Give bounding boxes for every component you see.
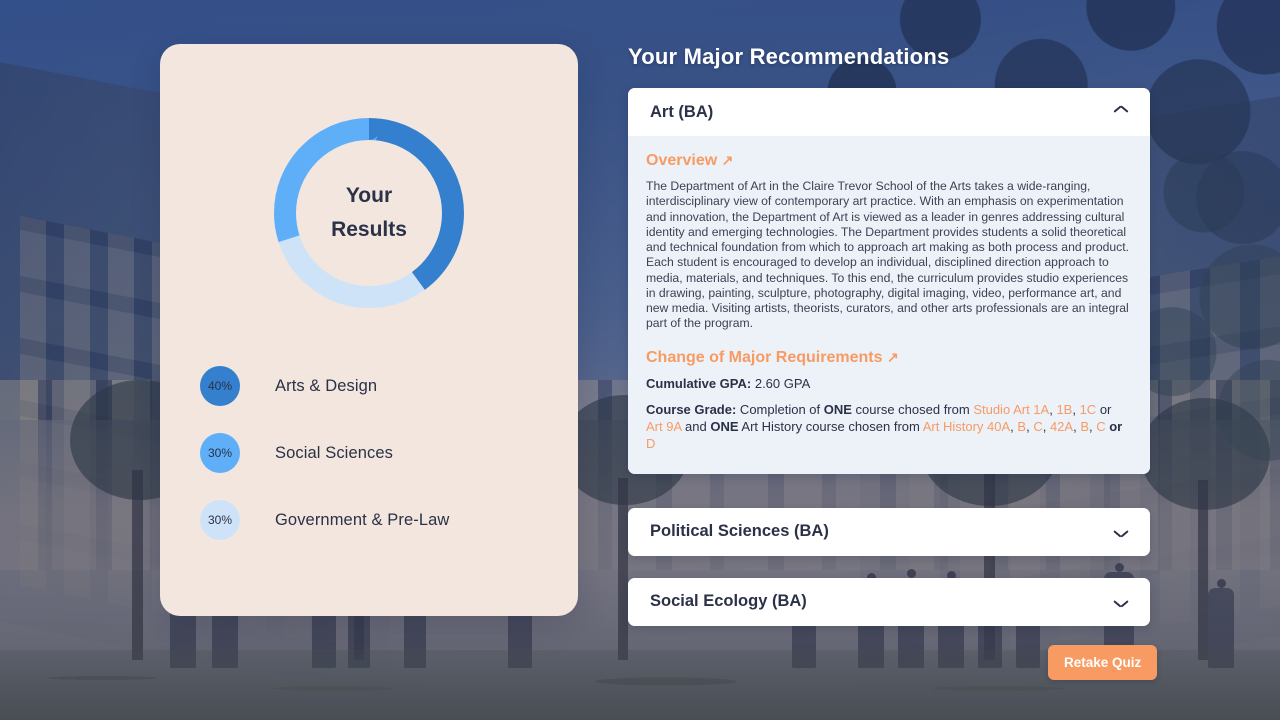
retake-quiz-container: Retake Quiz: [1048, 645, 1157, 680]
gpa-label: Cumulative GPA:: [646, 376, 751, 391]
course-link-40b[interactable]: B: [1017, 419, 1026, 434]
overview-heading-row[interactable]: Overview ↗: [646, 152, 1130, 170]
course-grade-line: Course Grade: Completion of ONE course c…: [646, 401, 1130, 452]
chevron-down-icon[interactable]: [1114, 597, 1128, 606]
page-title: Your Major Recommendations: [628, 44, 1180, 70]
accordion-header-social-ecology-ba[interactable]: Social Ecology (BA): [628, 578, 1150, 626]
legend-label: Social Sciences: [275, 444, 393, 463]
legend-item-government-prelaw: 30% Government & Pre-Law: [200, 500, 548, 540]
course-text-6: or: [1106, 419, 1123, 434]
course-sep-5: ,: [1043, 419, 1050, 434]
requirements-heading-row[interactable]: Change of Major Requirements ↗: [646, 349, 1130, 367]
legend-label: Government & Pre-Law: [275, 511, 449, 530]
course-text-5: Art History course chosen from: [739, 419, 923, 434]
course-text-2: course chosed from: [852, 402, 973, 417]
legend-item-social-sciences: 30% Social Sciences: [200, 433, 548, 473]
external-link-icon: ↗: [722, 152, 734, 168]
retake-quiz-button[interactable]: Retake Quiz: [1048, 645, 1157, 680]
course-text-3: or: [1096, 402, 1111, 417]
legend-item-arts-design: 40% Arts & Design: [200, 366, 548, 406]
overview-heading: Overview: [646, 152, 717, 169]
legend-label: Arts & Design: [275, 377, 377, 396]
legend-badge-percent: 30%: [200, 500, 240, 540]
course-link-42c[interactable]: C: [1096, 419, 1105, 434]
legend-badge-percent: 30%: [200, 433, 240, 473]
overview-text: The Department of Art in the Claire Trev…: [646, 179, 1130, 332]
results-card: Your Results 40% Arts & Design 30% Socia…: [160, 44, 578, 616]
recommendations-column: Your Major Recommendations Art (BA) Over…: [628, 44, 1180, 648]
course-link-studio-art-1a[interactable]: Studio Art 1A: [973, 402, 1049, 417]
course-link-1c[interactable]: 1C: [1080, 402, 1097, 417]
recommendations-accordion: Art (BA) Overview ↗ The Department of Ar…: [628, 88, 1150, 626]
accordion-item-social-ecology-ba: Social Ecology (BA): [628, 578, 1150, 626]
course-link-1b[interactable]: 1B: [1056, 402, 1072, 417]
course-text-4: and: [681, 419, 710, 434]
course-emphasis-one-1: ONE: [824, 402, 852, 417]
legend-badge-percent: 40%: [200, 366, 240, 406]
external-link-icon: ↗: [887, 349, 899, 365]
course-link-art-history-40a[interactable]: Art History 40A: [923, 419, 1010, 434]
accordion-title: Social Ecology (BA): [650, 592, 807, 611]
course-link-40c[interactable]: C: [1033, 419, 1042, 434]
course-sep-2: ,: [1072, 402, 1079, 417]
course-link-42b[interactable]: B: [1080, 419, 1089, 434]
requirements-heading: Change of Major Requirements: [646, 349, 882, 366]
results-donut-chart: Your Results: [268, 112, 470, 314]
accordion-item-art-ba: Art (BA) Overview ↗ The Department of Ar…: [628, 88, 1150, 474]
chevron-down-icon[interactable]: [1114, 527, 1128, 536]
results-legend: 40% Arts & Design 30% Social Sciences 30…: [200, 366, 548, 567]
accordion-header-art-ba[interactable]: Art (BA): [628, 88, 1150, 136]
cumulative-gpa-line: Cumulative GPA: 2.60 GPA: [646, 376, 1130, 391]
accordion-header-political-sciences-ba[interactable]: Political Sciences (BA): [628, 508, 1150, 556]
accordion-title: Political Sciences (BA): [650, 522, 829, 541]
course-grade-label: Course Grade:: [646, 402, 736, 417]
accordion-body-art-ba: Overview ↗ The Department of Art in the …: [628, 136, 1150, 474]
app-background: Your Results 40% Arts & Design 30% Socia…: [0, 0, 1280, 720]
course-link-art-9a[interactable]: Art 9A: [646, 419, 681, 434]
accordion-title: Art (BA): [650, 103, 713, 122]
chevron-up-icon[interactable]: [1114, 108, 1128, 117]
course-text-1: Completion of: [736, 402, 823, 417]
course-emphasis-one-2: ONE: [710, 419, 738, 434]
donut-svg: [268, 112, 470, 314]
course-link-42a[interactable]: 42A: [1050, 419, 1073, 434]
course-link-42d[interactable]: D: [646, 436, 655, 451]
gpa-value: 2.60 GPA: [755, 376, 810, 391]
accordion-item-political-sciences-ba: Political Sciences (BA): [628, 508, 1150, 556]
